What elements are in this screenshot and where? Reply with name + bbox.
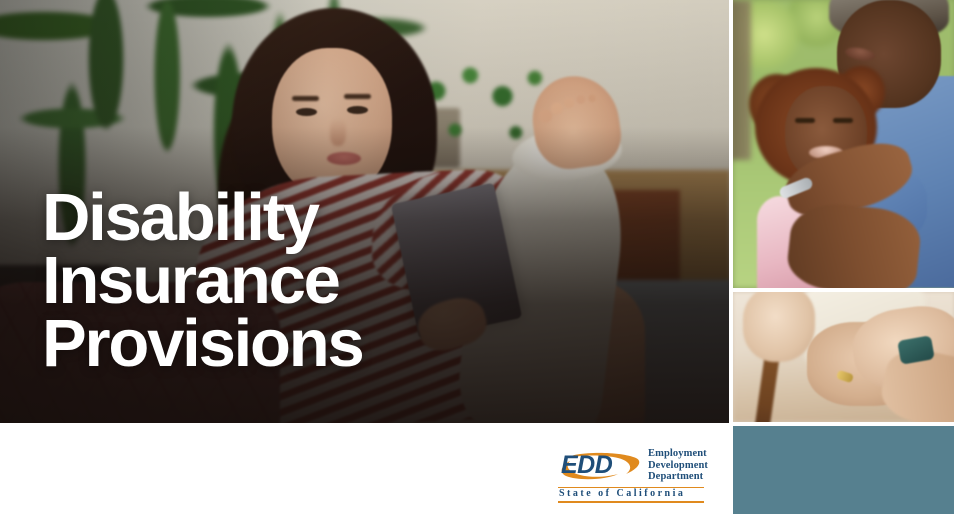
image-holding-elderly-hands	[733, 292, 954, 422]
edd-logo: EDD Employment Development Department St…	[556, 448, 706, 504]
teal-accent-block	[733, 426, 954, 514]
edd-divider-bottom	[558, 501, 704, 503]
girl-eye-right	[833, 118, 853, 123]
girl-eye-left	[795, 118, 815, 123]
edd-state-line: State of California	[559, 488, 685, 499]
edd-agency-name: Employment Development Department	[648, 448, 708, 483]
right-image-column	[733, 0, 954, 514]
tree-trunk	[733, 0, 751, 160]
hand-on-cane	[743, 292, 815, 362]
image-grandmother-granddaughter	[733, 0, 954, 288]
edd-logo-letters: EDD	[561, 453, 612, 478]
edd-logo-mark: EDD	[556, 450, 644, 484]
page-title: Disability Insurance Provisions	[42, 186, 363, 375]
slide-root: Disability Insurance Provisions EDD Empl…	[0, 0, 954, 514]
hero-image: Disability Insurance Provisions	[0, 0, 729, 423]
